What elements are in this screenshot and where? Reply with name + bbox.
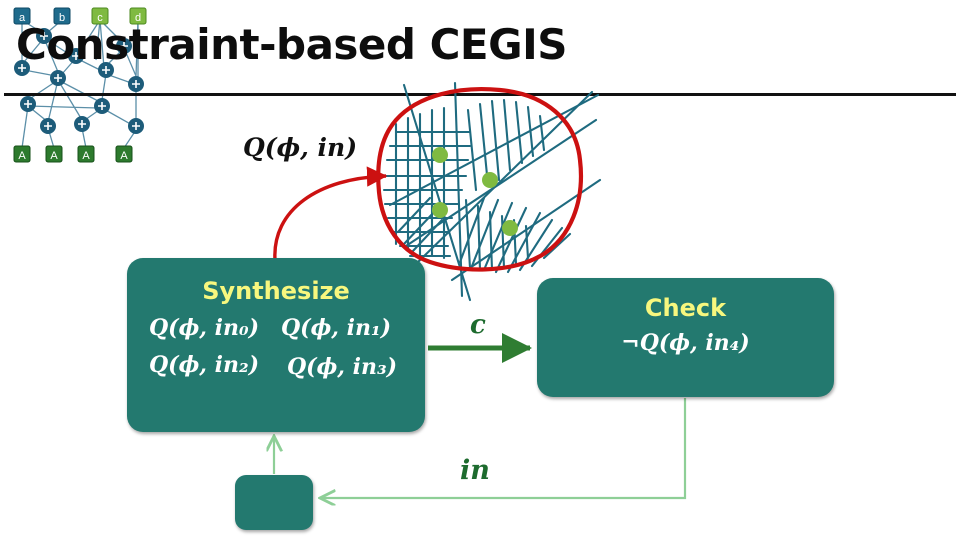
svg-text:A: A — [50, 150, 58, 162]
svg-text:A: A — [18, 150, 26, 162]
page-title: Constraint-based CEGIS — [16, 20, 567, 69]
check-title: Check — [537, 294, 834, 322]
synthesize-formula-3: Q(ϕ, in₃) — [287, 354, 397, 380]
title-divider — [4, 93, 956, 96]
slide-canvas: Constraint-based CEGIS — [0, 0, 960, 540]
sample-points — [432, 147, 518, 236]
spec-arrow — [275, 176, 386, 260]
synthesize-box[interactable]: Synthesize Q(ϕ, in₀) Q(ϕ, in₁) Q(ϕ, in₂)… — [127, 258, 425, 432]
synthesize-formula-0: Q(ϕ, in₀) — [149, 315, 259, 341]
spec-label: Q(ϕ, in) — [243, 133, 357, 162]
synthesize-formula-1: Q(ϕ, in₁) — [281, 315, 391, 341]
svg-text:A: A — [120, 150, 128, 162]
check-box[interactable]: Check ¬Q(ϕ, in₄) — [537, 278, 834, 397]
check-formula: ¬Q(ϕ, in₄) — [537, 330, 834, 356]
counterexample-label: in — [460, 455, 490, 486]
synthesize-title: Synthesize — [127, 277, 425, 305]
candidate-label: c — [470, 310, 486, 340]
synthesize-formula-2: Q(ϕ, in₂) — [149, 352, 259, 378]
graph-output-nodes: A A A A — [14, 146, 132, 162]
loop-box[interactable] — [235, 475, 313, 530]
svg-text:A: A — [82, 150, 90, 162]
constraint-blob-outline — [378, 89, 581, 269]
